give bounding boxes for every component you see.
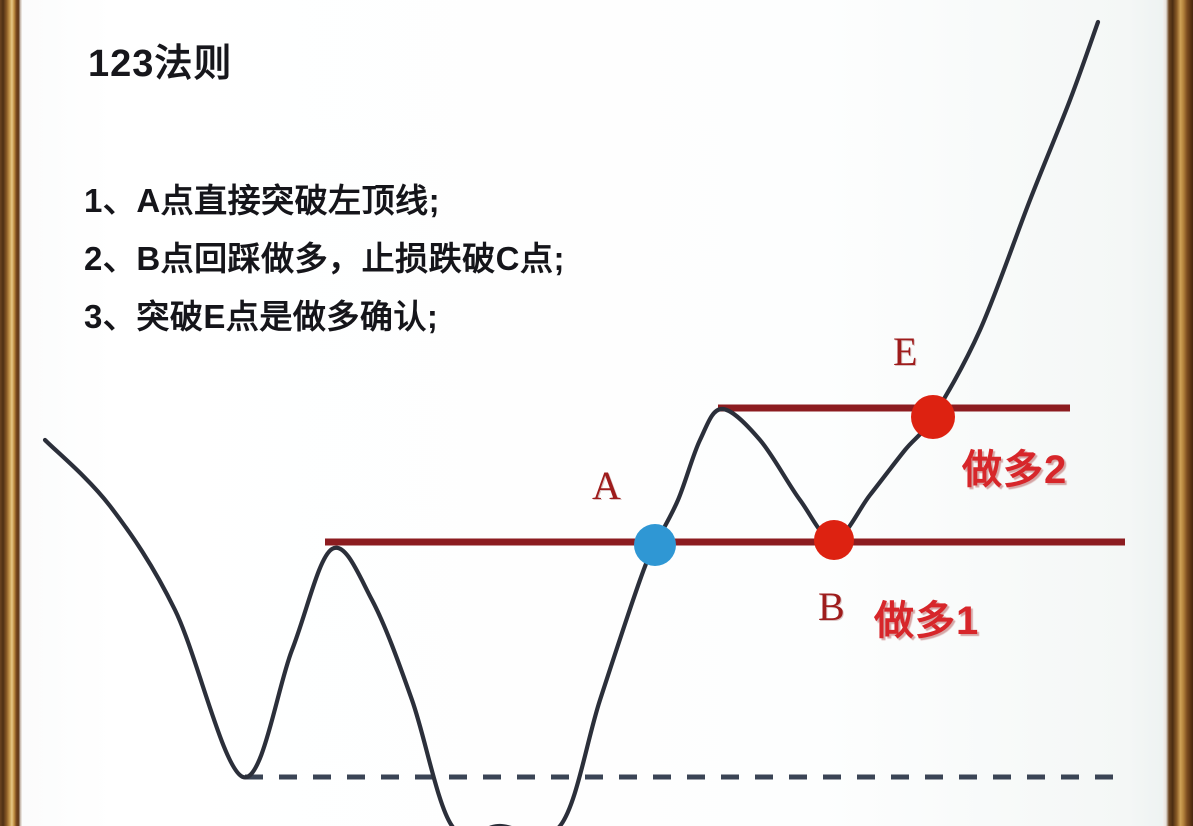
label-point-a: A [592, 462, 621, 509]
label-long-entry-1: 做多1 [874, 588, 979, 646]
rule-item-2: 2、B点回踩做多，止损跌破C点; [84, 230, 565, 288]
point-a-marker[interactable] [634, 524, 676, 566]
rule-item-1: 1、A点直接突破左顶线; [84, 172, 565, 230]
rules-list: 1、A点直接突破左顶线; 2、B点回踩做多，止损跌破C点; 3、突破E点是做多确… [84, 172, 565, 346]
price-chart [0, 0, 1193, 826]
label-long-entry-2: 做多2 [962, 437, 1067, 495]
point-b-marker[interactable] [814, 520, 854, 560]
screenshot-root: 123法则 1、A点直接突破左顶线; 2、B点回踩做多，止损跌破C点; 3、突破… [0, 0, 1193, 826]
page-title: 123法则 [88, 32, 232, 87]
point-e-marker[interactable] [911, 395, 955, 439]
label-point-e: E [893, 328, 917, 375]
rule-item-3: 3、突破E点是做多确认; [84, 288, 565, 346]
label-point-b: B [818, 583, 845, 630]
